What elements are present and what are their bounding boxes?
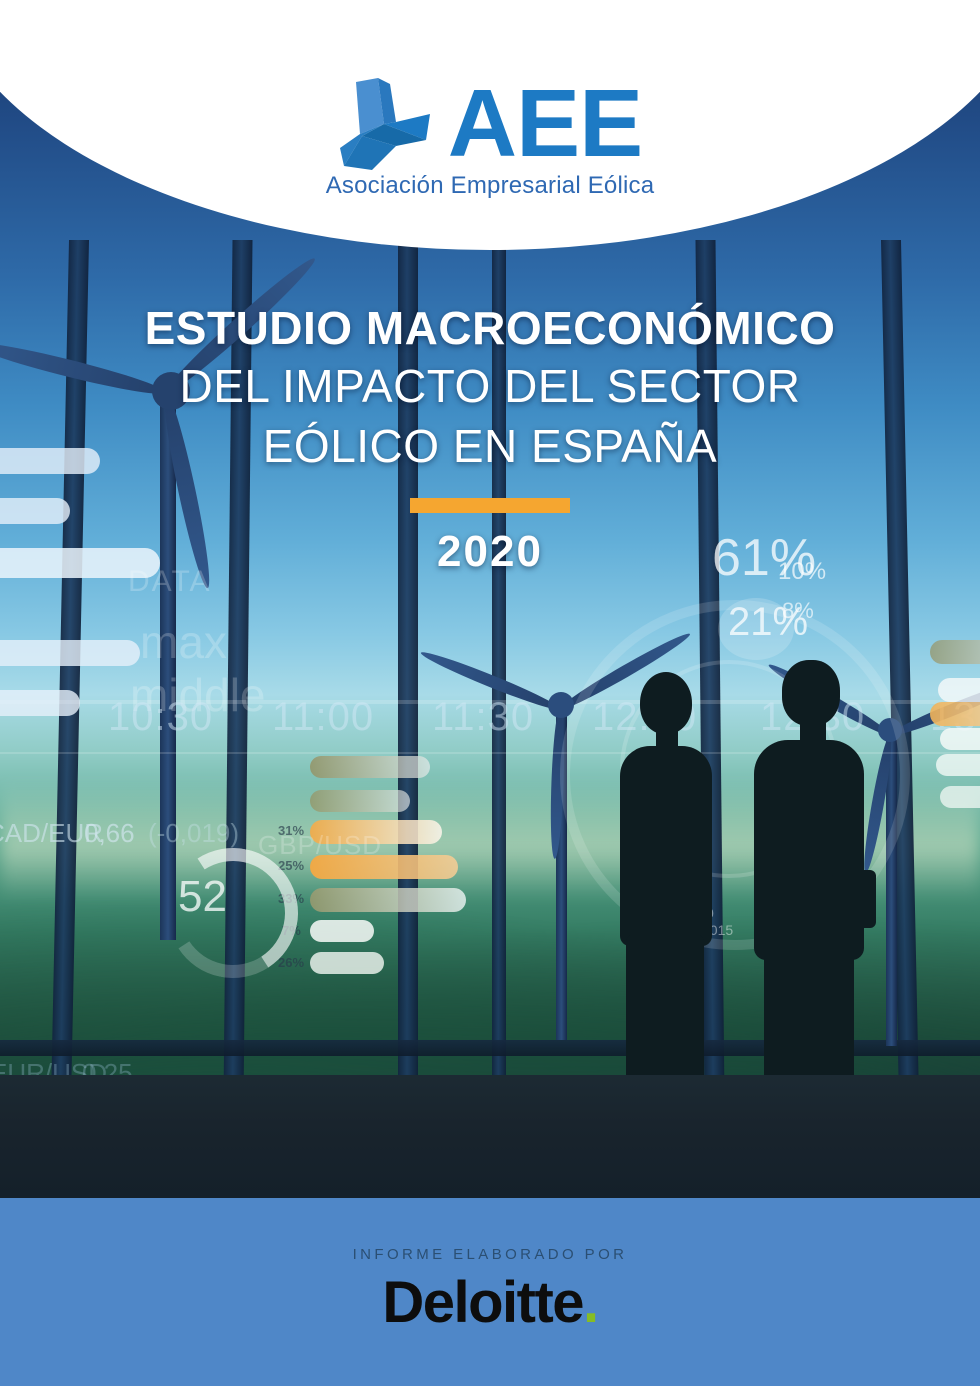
- deloitte-logo: Deloitte.: [0, 1269, 980, 1336]
- hud-pill-bar: [940, 728, 980, 750]
- hud-chart-bar: [310, 952, 384, 974]
- report-cover-page: DATA max middle 61% 21% 10% 8% 10:30 11:…: [0, 0, 980, 1386]
- hud-chart-bar: [310, 790, 410, 812]
- hud-time-1100: 11:00: [272, 695, 374, 740]
- hud-chart-bar: [310, 756, 430, 778]
- aee-turbine-blade-logo-icon: [338, 78, 442, 170]
- hud-chart-bar: [310, 920, 374, 942]
- title-line-2: DEL IMPACTO DEL SECTOR: [0, 356, 980, 416]
- aee-wordmark: AEE: [448, 82, 642, 166]
- deloitte-green-dot: .: [583, 1270, 598, 1335]
- hud-pill-bar: [936, 754, 980, 776]
- aee-tagline: Asociación Empresarial Eólica: [326, 172, 655, 200]
- hud-ticker-change-cadeur: (-0,019): [148, 818, 239, 849]
- hud-gauge-value: 52: [178, 872, 227, 922]
- hud-pill-bar: [0, 640, 140, 666]
- cover-footer: INFORME ELABORADO POR Deloitte.: [0, 1198, 980, 1386]
- title-line-1: ESTUDIO MACROECONÓMICO: [0, 300, 980, 356]
- footer-content: INFORME ELABORADO POR Deloitte.: [0, 1246, 980, 1336]
- reflective-floor: [0, 1075, 980, 1198]
- hud-bar-label-26: 26%: [278, 955, 304, 970]
- aee-logo[interactable]: AEE Asociación Empresarial Eólica: [0, 78, 980, 200]
- deloitte-wordmark: Deloitte: [382, 1270, 583, 1335]
- hud-pill-bar: [0, 690, 80, 716]
- title-line-3: EÓLICO EN ESPAÑA: [0, 416, 980, 476]
- hud-pill-bar: [930, 702, 980, 726]
- hud-pill-bar: [930, 640, 980, 664]
- hud-chart-bar: [310, 888, 466, 912]
- logo-row: AEE: [338, 78, 642, 170]
- cover-title-block: ESTUDIO MACROECONÓMICO DEL IMPACTO DEL S…: [0, 300, 980, 577]
- hud-word-max: max: [140, 615, 227, 669]
- hud-time-1030: 10:30: [108, 695, 213, 740]
- report-year: 2020: [0, 527, 980, 577]
- hud-pill-bar: [938, 678, 980, 702]
- hud-ticker-value-cadeur: 0,66: [84, 818, 135, 849]
- title-divider: [410, 498, 570, 513]
- footer-prepared-by-label: INFORME ELABORADO POR: [0, 1246, 980, 1263]
- hud-pill-bar: [940, 786, 980, 808]
- hud-time-1130: 11:30: [432, 695, 534, 740]
- hud-word-gbpusd: GBP/USD: [258, 830, 382, 861]
